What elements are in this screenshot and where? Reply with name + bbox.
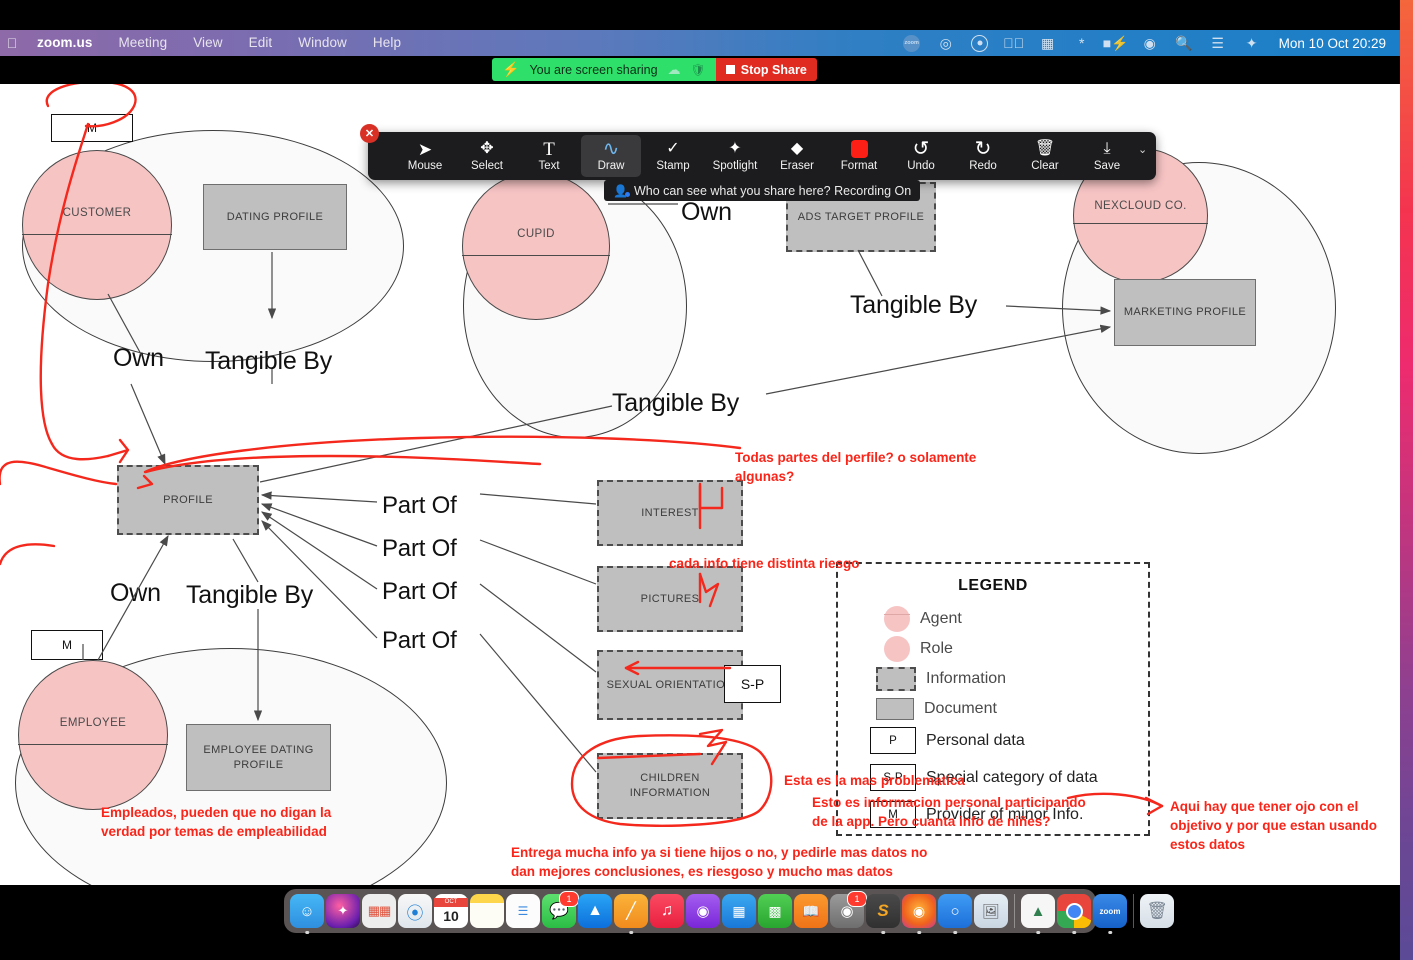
relation-part-of-sexual-orientation: Part Of xyxy=(382,578,457,606)
agent-employee-label: EMPLOYEE xyxy=(19,717,167,729)
note-riesgo: cada info tiene distinta riesgo xyxy=(669,554,899,573)
document-employee-dating-profile: EMPLOYEE DATING PROFILE xyxy=(186,724,331,791)
dock-item-books[interactable]: 📖 xyxy=(794,894,828,928)
relation-part-of-children-information: Part Of xyxy=(382,627,457,655)
legend-row-role: Role xyxy=(884,636,953,662)
relation-own-cupid: Own xyxy=(681,198,732,227)
dock-separator-trash xyxy=(1133,894,1134,928)
search-icon[interactable]: 🔍 xyxy=(1167,30,1201,56)
document-dating-profile-label: DATING PROFILE xyxy=(227,210,323,225)
dock-item-notes[interactable] xyxy=(470,894,504,928)
marker-m-customer-label: M xyxy=(87,121,97,135)
dock-item-firefox[interactable]: ◉ xyxy=(902,894,936,928)
tool-redo[interactable]: ↻ Redo xyxy=(953,135,1013,177)
document-dating-profile: DATING PROFILE xyxy=(203,184,347,250)
note-personal: Esto es informacion personal participand… xyxy=(812,793,1087,831)
note-interest: Todas partes del perfile? o solamente al… xyxy=(735,448,995,486)
recording-cloud-icon[interactable]: ☁ xyxy=(668,62,681,78)
person-badge-icon: 👤 xyxy=(613,184,628,198)
tool-stamp-label: Stamp xyxy=(656,161,689,173)
dock-item-notes-yellow[interactable]: ╱ xyxy=(614,894,648,928)
agent-cupid-label: CUPID xyxy=(463,228,609,240)
legend-row-personal-data: P Personal data xyxy=(870,727,1025,754)
shared-screen-content: CUSTOMER M DATING PROFILE Own Tangible B… xyxy=(0,84,1400,885)
relation-tangible-employee-dating: Tangible By xyxy=(186,581,313,610)
share-privacy-tooltip-label: Who can see what you share here? Recordi… xyxy=(634,184,911,198)
marker-m-customer: M xyxy=(51,114,133,142)
undo-arrow-icon: ↺ xyxy=(913,140,930,159)
tool-select[interactable]: ✥ Select xyxy=(457,135,517,177)
cleaner-icon[interactable] xyxy=(963,30,997,56)
agent-employee: EMPLOYEE xyxy=(18,660,168,810)
information-box-icon xyxy=(876,667,916,691)
tool-mouse[interactable]: ➤ Mouse xyxy=(395,135,455,177)
zoom-tray-icon[interactable]: zoom xyxy=(895,30,929,56)
marker-sp-label: S-P xyxy=(741,676,764,692)
share-privacy-tooltip[interactable]: 👤 Who can see what you share here? Recor… xyxy=(604,180,920,201)
share-status-label: You are screen sharing xyxy=(529,63,657,77)
information-profile: PROFILE xyxy=(117,465,259,535)
eraser-icon: ◆ xyxy=(791,140,803,159)
dock-item-trash[interactable]: 🗑 xyxy=(1140,894,1174,928)
marker-sp-sexual-orientation: S-P xyxy=(724,665,781,703)
dock-item-xcode[interactable]: ◉1 xyxy=(830,894,864,928)
agent-band xyxy=(1073,223,1209,224)
check-stamp-icon: ✓ xyxy=(666,140,679,159)
messages-badge: 1 xyxy=(559,891,579,907)
information-children-information-label: CHILDREN INFORMATION xyxy=(599,771,741,801)
tool-draw-label: Draw xyxy=(598,161,625,173)
tool-stamp[interactable]: ✓ Stamp xyxy=(643,135,703,177)
agent-customer: CUSTOMER xyxy=(22,150,172,300)
agent-nexcloud-label: NEXCLOUD CO. xyxy=(1074,200,1207,212)
tool-eraser-label: Eraser xyxy=(780,161,814,173)
dock-item-app-store[interactable]: ▲ xyxy=(578,894,612,928)
tool-save-label: Save xyxy=(1094,161,1120,173)
close-icon[interactable]: ✕ xyxy=(360,124,379,143)
legend-label-personal-data: Personal data xyxy=(926,732,1025,750)
tool-text[interactable]: T Text xyxy=(519,135,579,177)
tool-eraser[interactable]: ◆ Eraser xyxy=(767,135,827,177)
text-t-icon: T xyxy=(543,140,555,159)
note-objetivo: Aqui hay que tener ojo con el objetivo y… xyxy=(1170,797,1400,854)
redo-arrow-icon: ↻ xyxy=(975,140,992,159)
color-swatch-icon xyxy=(851,140,868,159)
agent-cupid: CUPID xyxy=(462,172,610,320)
legend-label-information: Information xyxy=(926,670,1006,688)
relation-part-of-interest: Part Of xyxy=(382,492,457,520)
display-icon[interactable]: ▦ xyxy=(1031,30,1065,56)
tool-undo-label: Undo xyxy=(907,161,935,173)
legend-label-role: Role xyxy=(920,640,953,658)
dock-item-keynote[interactable]: ▦ xyxy=(722,894,756,928)
dock-item-siri[interactable]: ✦ xyxy=(326,894,360,928)
dock-item-chrome[interactable] xyxy=(1057,894,1091,928)
tool-format[interactable]: Format xyxy=(829,135,889,177)
tool-select-label: Select xyxy=(471,161,503,173)
tool-clear[interactable]: 🗑 Clear xyxy=(1015,135,1075,177)
trash-icon: 🗑 xyxy=(1035,140,1055,159)
information-pictures: PICTURES xyxy=(597,566,743,632)
information-sexual-orientation: SEXUAL ORIENTATION xyxy=(597,650,743,720)
agent-customer-label: CUSTOMER xyxy=(23,207,171,219)
document-box-icon xyxy=(876,698,914,720)
menu-bar-clock[interactable]: Mon 10 Oct 20:29 xyxy=(1269,36,1392,51)
relation-own-customer: Own xyxy=(113,344,164,373)
role-circle-icon xyxy=(884,636,910,662)
tool-save[interactable]: ⤓ Save xyxy=(1077,135,1137,177)
dock-item-preview[interactable]: 🖼 xyxy=(974,894,1008,928)
marker-m-employee: M xyxy=(31,630,103,660)
dock-item-calendar[interactable]: OCT 10 xyxy=(434,894,468,928)
control-center-icon[interactable]: ☰ xyxy=(1201,30,1235,56)
save-download-icon: ⤓ xyxy=(1103,140,1110,159)
tool-redo-label: Redo xyxy=(969,161,997,173)
relation-part-of-pictures: Part Of xyxy=(382,535,457,563)
xcode-badge: 1 xyxy=(847,891,867,907)
dock-item-reminders[interactable]: ☰ xyxy=(506,894,540,928)
information-ads-target-profile-label: ADS TARGET PROFILE xyxy=(798,210,924,225)
legend-row-agent: Agent xyxy=(884,606,962,632)
information-pictures-label: PICTURES xyxy=(641,592,700,607)
tool-text-label: Text xyxy=(538,161,559,173)
menu-item-edit[interactable]: Edit xyxy=(236,30,286,56)
relation-tangible-center: Tangible By xyxy=(612,389,739,418)
tool-format-label: Format xyxy=(841,161,877,173)
menu-item-zoom-us[interactable]: zoom.us xyxy=(24,30,105,56)
note-entrega: Entrega mucha info ya si tiene hijos o n… xyxy=(511,843,941,881)
annotation-toolbar: ✕ ➤ Mouse ✥ Select T Text ∿ Draw ✓ Stamp… xyxy=(368,132,1156,180)
legend-row-information: Information xyxy=(876,667,1006,691)
agent-band xyxy=(18,744,169,745)
menu-item-view[interactable]: View xyxy=(180,30,235,56)
dock-item-launchpad[interactable]: ▦▦ xyxy=(362,894,396,928)
document-marketing-profile-label: MARKETING PROFILE xyxy=(1124,305,1246,320)
tool-mouse-label: Mouse xyxy=(408,161,443,173)
dock-item-finder[interactable]: ☺ xyxy=(290,894,324,928)
menu-item-help[interactable]: Help xyxy=(360,30,414,56)
legend-title: LEGEND xyxy=(838,577,1148,595)
macos-dock: ☺ ✦ ▦▦ ⦿ OCT 10 ☰ 💬1 ▲ ╱ ♫ ◉ ▦ ▩ 📖 ◉1 S … xyxy=(284,889,1096,933)
document-employee-dating-profile-label: EMPLOYEE DATING PROFILE xyxy=(187,743,330,773)
relation-tangible-ads-target: Tangible By xyxy=(850,291,977,320)
legend-row-document: Document xyxy=(876,698,997,720)
squiggle-draw-icon: ∿ xyxy=(603,140,620,159)
tool-undo[interactable]: ↺ Undo xyxy=(891,135,951,177)
menu-item-window[interactable]: Window xyxy=(285,30,360,56)
cursor-arrow-icon: ➤ xyxy=(418,140,432,159)
dock-item-safari[interactable]: ⦿ xyxy=(398,894,432,928)
information-interest-label: INTEREST xyxy=(641,506,699,521)
desktop-wallpaper-edge xyxy=(1400,0,1413,960)
chevron-down-icon[interactable]: ⌄ xyxy=(1138,132,1152,180)
bluetooth-icon[interactable]: * xyxy=(1065,30,1099,56)
macos-menu-bar:  zoom.us Meeting View Edit Window Help … xyxy=(0,30,1400,56)
screen-share-bolt-icon: ⚡ xyxy=(502,61,519,78)
tool-spotlight-label: Spotlight xyxy=(713,161,758,173)
marker-m-employee-label: M xyxy=(62,638,72,652)
magic-wand-icon: ✦ xyxy=(728,140,741,159)
legend-label-document: Document xyxy=(924,700,997,718)
agent-circle-icon xyxy=(884,606,910,632)
legend-label-agent: Agent xyxy=(920,610,962,628)
relation-own-employee: Own xyxy=(110,579,161,608)
share-status: ⚡ You are screen sharing ☁ 🛡 xyxy=(492,58,716,81)
wifi-scan-icon[interactable]: ◎ xyxy=(929,30,963,56)
calendar-month: OCT xyxy=(434,898,468,907)
stop-square-icon xyxy=(726,65,735,74)
menu-item-meeting[interactable]: Meeting xyxy=(105,30,180,56)
apple-logo-icon[interactable]:  xyxy=(0,30,24,56)
calendar-day: 10 xyxy=(443,907,459,925)
compass-icon[interactable]: ✦ xyxy=(1235,30,1269,56)
tool-clear-label: Clear xyxy=(1031,161,1058,173)
tool-draw[interactable]: ∿ Draw xyxy=(581,135,641,177)
screen-share-bar: ⚡ You are screen sharing ☁ 🛡 Stop Share xyxy=(492,58,817,81)
information-children-information: CHILDREN INFORMATION xyxy=(597,753,743,819)
screen:  zoom.us Meeting View Edit Window Help … xyxy=(0,0,1413,960)
dock-item-sublime-text[interactable]: S xyxy=(866,894,900,928)
note-problematica: Esta es la mas problematica xyxy=(784,771,1014,790)
information-profile-label: PROFILE xyxy=(163,493,213,508)
dock-item-podcasts[interactable]: ◉ xyxy=(686,894,720,928)
agent-band xyxy=(462,255,611,256)
dock-item-zoom[interactable]: zoom xyxy=(1093,894,1127,928)
dock-item-nordvpn[interactable]: ▲ xyxy=(1021,894,1055,928)
menu-bar-tray: zoom ◎ ▶⃝ ▦ * ■⚡ ◉ 🔍 ☰ ✦ Mon 10 Oct 20:2… xyxy=(895,30,1400,56)
personal-data-code-icon: P xyxy=(870,727,916,754)
encryption-shield-icon[interactable]: 🛡 xyxy=(691,63,706,77)
move-arrows-icon: ✥ xyxy=(480,140,493,159)
dock-item-numbers[interactable]: ▩ xyxy=(758,894,792,928)
stop-share-label: Stop Share xyxy=(741,63,807,77)
dock-item-messages[interactable]: 💬1 xyxy=(542,894,576,928)
tool-spotlight[interactable]: ✦ Spotlight xyxy=(705,135,765,177)
dock-separator xyxy=(1014,894,1015,928)
document-marketing-profile: MARKETING PROFILE xyxy=(1114,279,1256,346)
agent-band xyxy=(22,234,173,235)
dock-item-sketch[interactable]: ○ xyxy=(938,894,972,928)
battery-charging-icon[interactable]: ■⚡ xyxy=(1099,30,1133,56)
user-account-icon[interactable]: ◉ xyxy=(1133,30,1167,56)
dock-item-music[interactable]: ♫ xyxy=(650,894,684,928)
relation-tangible-dating-profile: Tangible By xyxy=(205,347,332,376)
stop-share-button[interactable]: Stop Share xyxy=(716,58,817,81)
information-sexual-orientation-label: SEXUAL ORIENTATION xyxy=(607,678,734,693)
note-empleados: Empleados, pueden que no digan la verdad… xyxy=(101,803,351,841)
information-interest: INTEREST xyxy=(597,480,743,546)
play-circle-icon[interactable]: ▶⃝ xyxy=(997,30,1031,56)
